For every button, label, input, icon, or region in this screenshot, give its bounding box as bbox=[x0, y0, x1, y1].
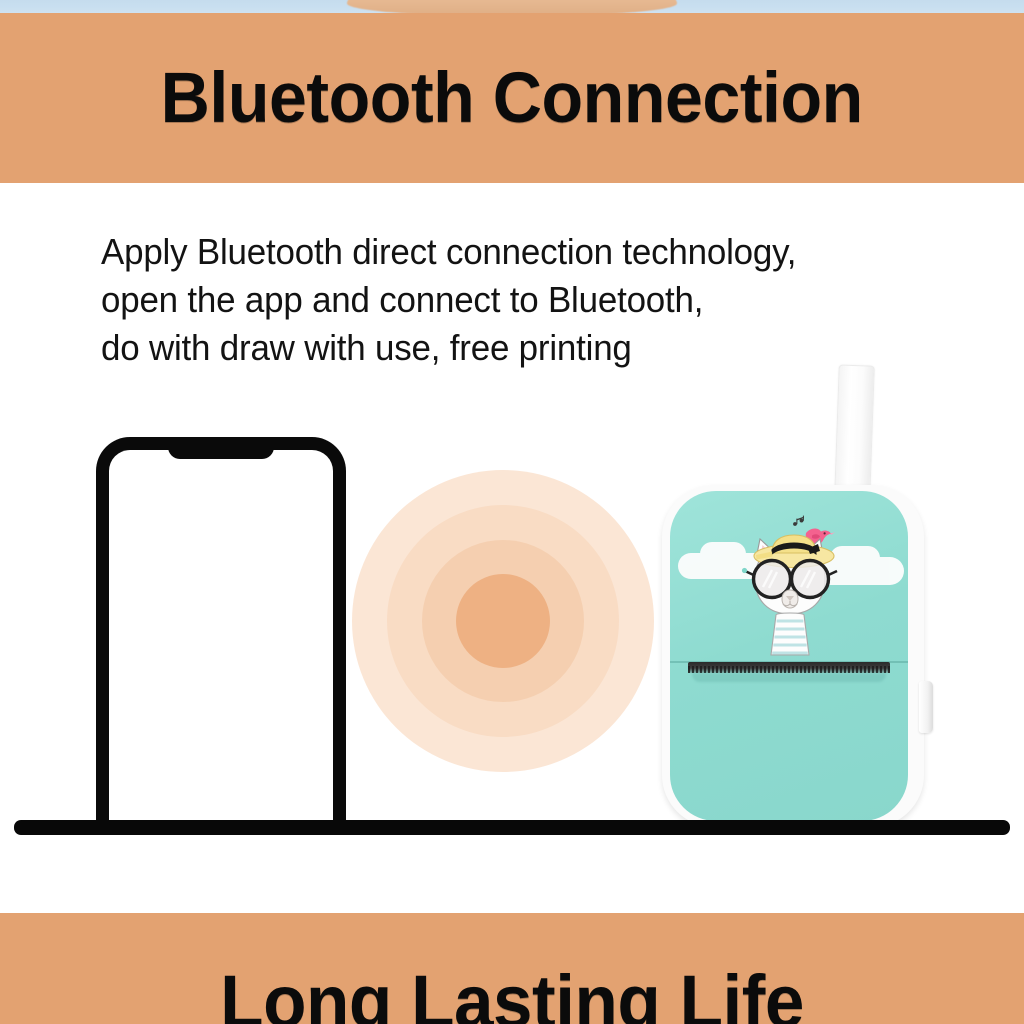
paper-slot-shadow bbox=[692, 673, 886, 682]
description-text-block: Apply Bluetooth direct connection techno… bbox=[101, 228, 955, 372]
bluetooth-signal-waves bbox=[352, 470, 654, 772]
printer-power-button[interactable] bbox=[919, 681, 933, 733]
illustration-stage bbox=[0, 360, 1024, 840]
phone-shell bbox=[96, 437, 346, 827]
header-banner-title: Bluetooth Connection bbox=[161, 63, 863, 134]
product-infographic-page: Bluetooth Connection Apply Bluetooth dir… bbox=[0, 0, 1024, 1024]
photo-subject-blob bbox=[347, 0, 677, 13]
top-photo-sliver bbox=[0, 0, 1024, 13]
footer-banner: Long Lasting Life bbox=[0, 913, 1024, 1024]
receipt-paper-strip bbox=[834, 364, 875, 503]
smartphone-illustration bbox=[96, 437, 346, 827]
ground-line bbox=[14, 820, 1010, 835]
description-line-2: open the app and connect to Bluetooth, bbox=[101, 276, 955, 324]
music-notes-icon bbox=[793, 516, 804, 526]
mini-printer-illustration bbox=[662, 485, 924, 827]
cat-character-icon bbox=[732, 515, 848, 661]
footer-banner-title: Long Lasting Life bbox=[220, 965, 804, 1024]
description-line-1: Apply Bluetooth direct connection techno… bbox=[101, 228, 955, 276]
white-gap-strip bbox=[0, 840, 1024, 913]
paper-slot-tear-edge bbox=[688, 662, 890, 673]
phone-notch bbox=[168, 437, 274, 459]
header-banner: Bluetooth Connection bbox=[0, 13, 1024, 183]
signal-ring-core bbox=[456, 574, 550, 668]
printer-body bbox=[670, 491, 908, 821]
